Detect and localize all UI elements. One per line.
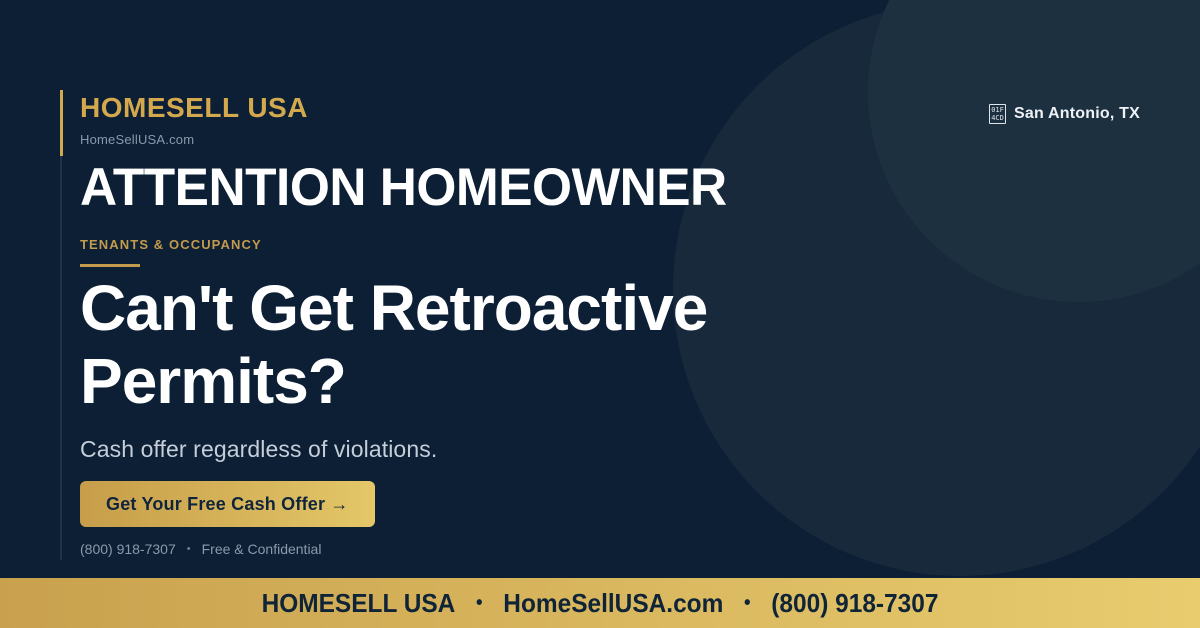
left-rail-gold-accent: [60, 90, 63, 156]
eyebrow-label: TENANTS & OCCUPANCY: [80, 237, 262, 252]
subheadline: Cash offer regardless of violations.: [80, 436, 437, 463]
ad-banner: 01F 4CD San Antonio, TX HOMESELL USA Hom…: [0, 0, 1200, 628]
footer-brand: HOMESELL USA: [262, 588, 456, 619]
brand-block: HOMESELL USA HomeSellUSA.com: [80, 93, 308, 147]
footer-content: HOMESELL USA • HomeSellUSA.com • (800) 9…: [262, 588, 939, 619]
attention-headline: ATTENTION HOMEOWNER: [80, 160, 727, 216]
get-free-cash-offer-button[interactable]: Get Your Free Cash Offer →: [80, 481, 375, 527]
footer-separator-2: •: [744, 593, 751, 613]
page-title: Can't Get Retroactive Permits?: [80, 272, 920, 418]
trust-note: Free & Confidential: [202, 541, 322, 557]
content-column: HOMESELL USA HomeSellUSA.com ATTENTION H…: [80, 0, 1120, 578]
eyebrow-underline: [80, 264, 140, 267]
trust-phone[interactable]: (800) 918-7307: [80, 541, 176, 557]
footer-phone[interactable]: (800) 918-7307: [771, 588, 938, 619]
footer-website[interactable]: HomeSellUSA.com: [503, 588, 723, 619]
footer-separator-1: •: [476, 593, 483, 613]
left-rail-divider: [60, 90, 62, 560]
eyebrow-block: TENANTS & OCCUPANCY: [80, 237, 262, 267]
footer-bar: HOMESELL USA • HomeSellUSA.com • (800) 9…: [0, 578, 1200, 628]
trust-line: (800) 918-7307 • Free & Confidential: [80, 541, 321, 557]
brand-website: HomeSellUSA.com: [80, 132, 308, 147]
brand-name: HOMESELL USA: [80, 93, 308, 124]
trust-separator-dot: •: [187, 543, 191, 555]
